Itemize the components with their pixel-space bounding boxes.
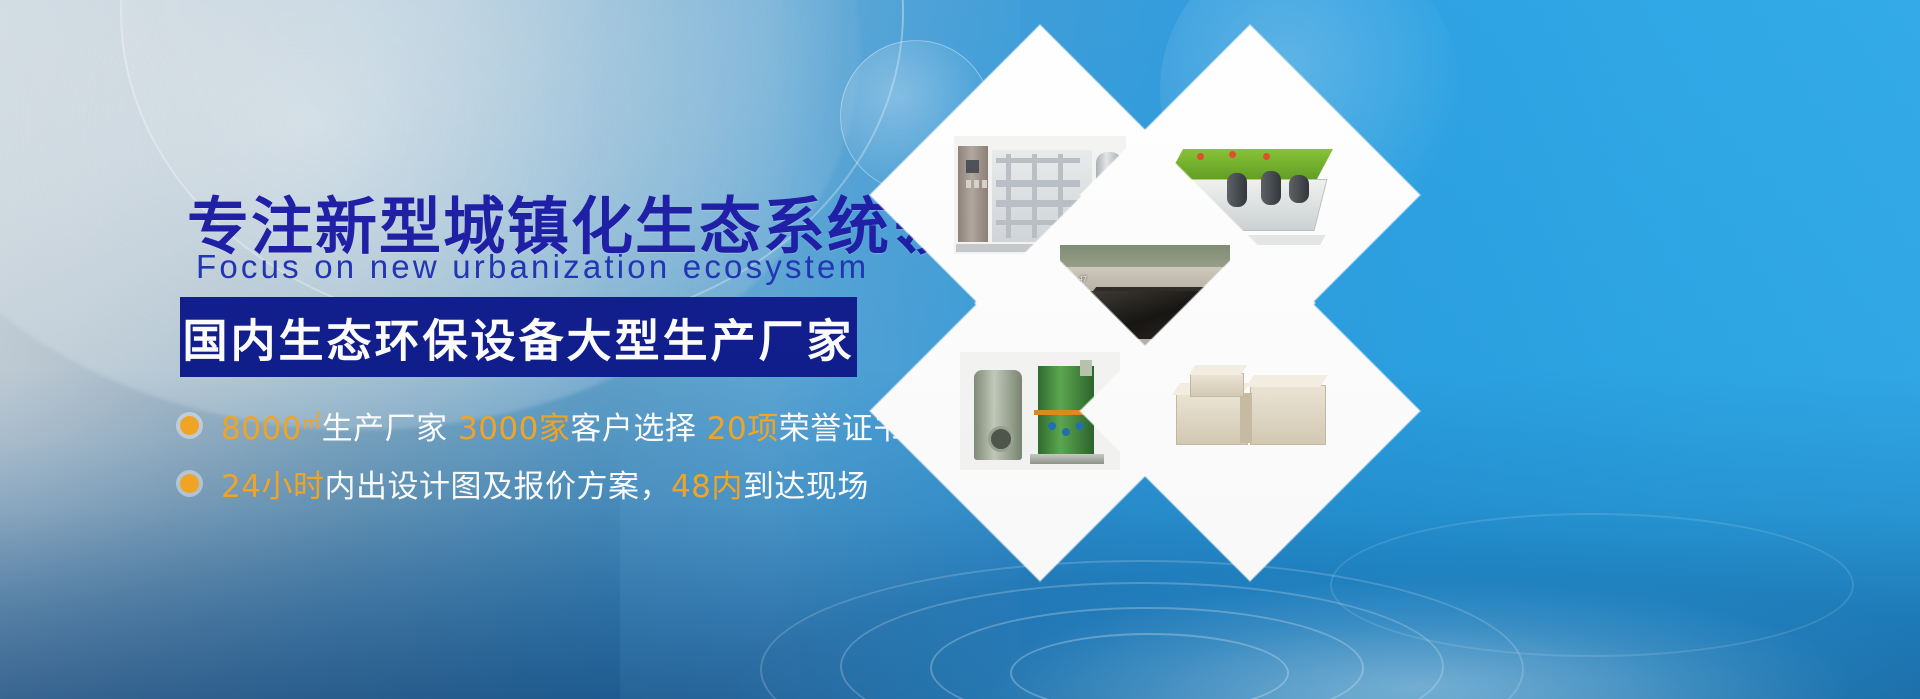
feature-text-1: 8000㎡生产厂家 3000家客户选择 20项荣誉证书 [221,403,905,448]
list-item: 24小时内出设计图及报价方案，48内到达现场 [180,458,920,508]
feature-text-2: 24小时内出设计图及报价方案，48内到达现场 [221,461,869,506]
feature-list: 8000㎡生产厂家 3000家客户选择 20项荣誉证书 24小时内出设计图及报价… [180,400,920,516]
bullet-dot-icon [180,416,199,435]
bullet-dot-icon [180,474,199,493]
list-item: 8000㎡生产厂家 3000家客户选择 20项荣誉证书 [180,400,920,450]
banner-copy: 专注新型城镇化生态系统领域 Focus on new urbanization … [0,0,920,699]
hero-banner: 专注新型城镇化生态系统领域 Focus on new urbanization … [0,0,1920,699]
highlight-banner-text: 国内生态环保设备大型生产厂家 [180,305,857,370]
product-gallery: 39 475 216 9 一体化污水处理设备生产厂家 [880,0,1920,699]
page-subtitle: Focus on new urbanization ecosystem [196,248,869,286]
photo-stacked-aerated-blocks [1166,359,1334,463]
highlight-banner: 国内生态环保设备大型生产厂家 [180,297,857,377]
